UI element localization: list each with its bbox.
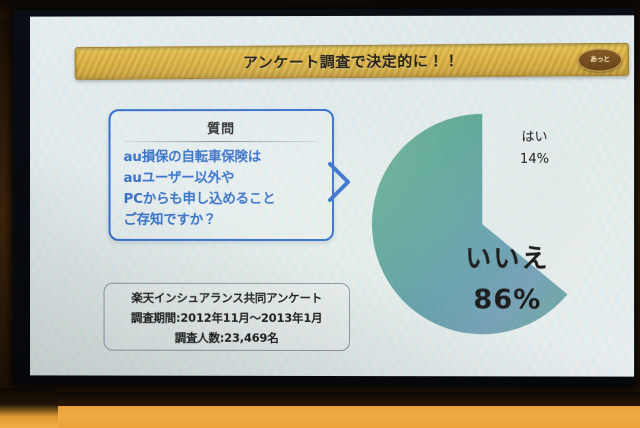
- question-line-4: ご存知ですか？: [123, 210, 322, 231]
- question-divider: [124, 141, 318, 142]
- projection-screen-surface: アンケート調査で決定的に！！ あっと 質問 au損保の自転車保険は auユーザー…: [30, 15, 634, 376]
- stage-floor-strip: [0, 392, 640, 428]
- brand-badge-icon: あっと: [578, 48, 622, 71]
- slide-title-text: アンケート調査で決定的に！！: [243, 50, 460, 73]
- question-line-1: au損保の自転車保険は: [123, 147, 322, 168]
- question-text: au損保の自転車保険は auユーザー以外や PCからも申し込めること ご存知です…: [123, 147, 322, 231]
- question-heading: 質問: [111, 118, 332, 137]
- survey-source-line: 楽天インシュアランス共同アンケート: [105, 288, 349, 308]
- survey-sample-line: 調査人数:23,469名: [105, 328, 349, 348]
- survey-info-box: 楽天インシュアランス共同アンケート 調査期間:2012年11月～2013年1月 …: [104, 283, 350, 351]
- question-line-2: auユーザー以外や: [123, 168, 322, 189]
- slide-title-banner: アンケート調査で決定的に！！ あっと: [75, 43, 630, 80]
- presentation-slide: アンケート調査で決定的に！！ あっと 質問 au損保の自転車保険は auユーザー…: [30, 15, 634, 376]
- pie-label-no-name: いいえ: [427, 238, 588, 275]
- projection-screen-frame: アンケート調査で決定的に！！ あっと 質問 au損保の自転車保険は auユーザー…: [13, 8, 635, 385]
- question-line-3: PCからも申し込めること: [123, 189, 322, 210]
- pie-label-yes-value: 14%: [494, 152, 574, 167]
- brand-badge-label: あっと: [590, 54, 610, 64]
- pie-label-yes-name: はい: [494, 126, 574, 145]
- pie-label-no-value: 86%: [427, 284, 588, 315]
- question-callout-box: 質問 au損保の自転車保険は auユーザー以外や PCからも申し込めること ご存…: [109, 109, 334, 241]
- stage-ledge: [0, 388, 58, 428]
- survey-period-line: 調査期間:2012年11月～2013年1月: [105, 308, 349, 328]
